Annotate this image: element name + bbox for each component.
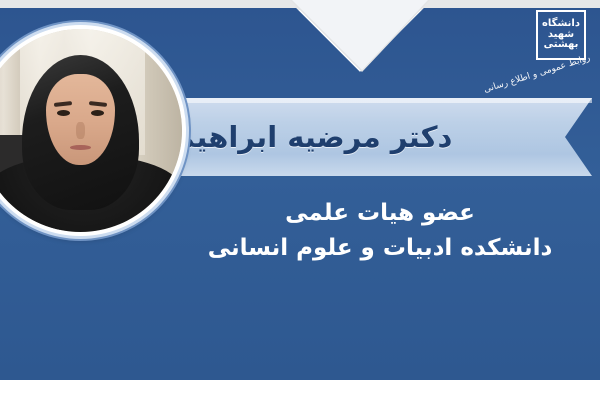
affiliation-role: عضو هیات علمی [180,196,580,231]
university-logo: دانشگاه شهید بهشتی روابط عمومی و اطلاع ر… [500,8,592,88]
photo-nose [76,122,84,138]
shahid-beheshti-logo-icon: دانشگاه شهید بهشتی [536,10,586,60]
bottom-white-strip [0,380,600,400]
portrait-photo [0,29,182,232]
avatar [0,25,186,236]
poster-card: دکتر مرضیه ابراهیمی دانشگاه شهید بهشتی ر… [0,0,600,400]
logo-mark-text: دانشگاه شهید بهشتی [538,19,584,51]
photo-mouth [70,145,90,150]
affiliation-block: عضو هیات علمی دانشکده ادبیات و علوم انسا… [180,196,580,265]
affiliation-faculty: دانشکده ادبیات و علوم انسانی [180,231,580,266]
